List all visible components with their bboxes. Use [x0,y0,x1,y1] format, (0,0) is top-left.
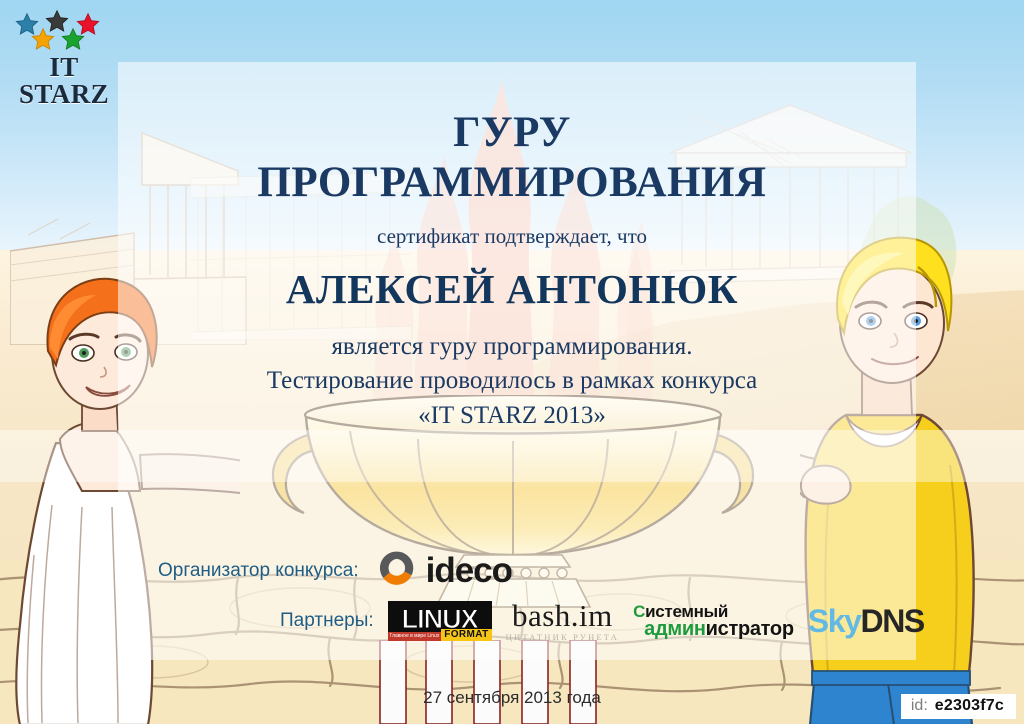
star-green-icon [60,27,86,53]
sysadmin-line-2: администратор [644,620,794,639]
skydns-sky: Sky [808,603,861,639]
linux-format-logo: LINUX FORMAT Главное в мире Linux [388,601,492,641]
star-orange-icon [30,27,56,53]
it-starz-logo[interactable]: IT STARZ [12,8,116,90]
partner-linux-format[interactable]: LINUX FORMAT Главное в мире Linux [388,601,492,641]
partners-row: Партнеры: LINUX FORMAT Главное в мире Li… [280,600,980,642]
partner-skydns[interactable]: SkyDNS [808,605,924,637]
certificate-body: является гуру программирования. Тестиров… [0,330,1024,433]
certificate-canvas: IT STARZ ГУРУ ПРОГРАММИРОВАНИЯ сертифика… [0,0,1024,724]
sysadmin-istrator: истратор [706,618,794,640]
certificate-subtitle: сертификат подтверждает, что [0,224,1024,249]
certificate-id-badge: id: e2303f7c [901,694,1016,719]
partners-label: Партнеры: [280,610,374,632]
bash-im-word: bash.im [512,600,613,631]
body-line-2: Тестирование проводилось в рамках конкур… [0,364,1024,398]
organizer-label: Организатор конкурса: [158,560,359,582]
body-line-3: «IT STARZ 2013» [0,399,1024,433]
logo-wordmark: IT STARZ [12,54,116,108]
skydns-logo: SkyDNS [808,605,924,637]
sysadmin-admin-green: админ [644,618,706,640]
skydns-dns: DNS [861,603,924,639]
title-line-1: ГУРУ [453,109,571,156]
bash-im-tagline: ЦИТАТНИК РУНЕТА [506,632,619,642]
certificate-title: ГУРУ ПРОГРАММИРОВАНИЯ [0,108,1024,209]
id-value: e2303f7c [935,697,1004,715]
ideco-logo[interactable]: ideco [377,548,512,593]
id-label: id: [911,697,928,715]
ideco-mark-icon [377,548,417,593]
partner-sistemny-administrator[interactable]: Системный администратор [633,604,794,639]
linux-format-tagline: Главное в мире Linux [388,632,442,641]
certificate-date: 27 сентября 2013 года [0,688,1024,708]
organizer-row: Организатор конкурса: ideco [158,548,798,593]
sysadmin-logo: Системный администратор [633,604,794,639]
partner-bash-im[interactable]: bash.im ЦИТАТНИК РУНЕТА [506,600,619,642]
certificate-content: ГУРУ ПРОГРАММИРОВАНИЯ сертификат подтвер… [0,0,1024,724]
linux-format-banner: FORMAT [441,629,491,641]
title-line-2: ПРОГРАММИРОВАНИЯ [0,158,1024,208]
recipient-name: АЛЕКСЕЙ АНТОНЮК [0,265,1024,313]
ideco-wordmark: ideco [426,551,512,591]
body-line-1: является гуру программирования. [0,330,1024,364]
logo-stars [12,8,116,52]
